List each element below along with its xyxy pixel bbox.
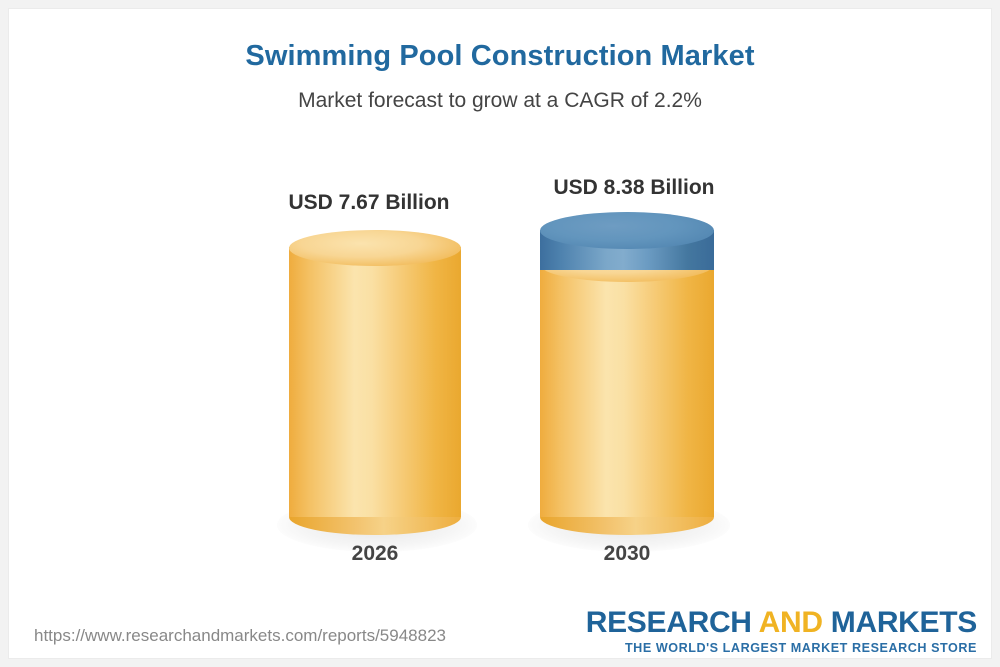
category-label-2026: 2026 [289,542,461,566]
chart-canvas: Swimming Pool Construction Market Market… [8,8,992,659]
logo-wordmark: RESEARCH AND MARKETS [586,607,977,639]
category-label-2030: 2030 [540,542,714,566]
logo-word-markets: MARKETS [831,606,977,639]
chart-plot-area: USD 7.67 Billion 2026 USD 8.38 Billion 2… [9,9,992,659]
bar-value-label-2030: USD 8.38 Billion [454,176,814,200]
logo-word-and: AND [759,606,823,639]
bar-body-2026 [289,247,461,517]
logo-tagline: THE WORLD'S LARGEST MARKET RESEARCH STOR… [586,641,977,656]
logo-word-research: RESEARCH [586,606,752,639]
bar-top-ellipse-2026 [289,230,461,266]
bar-cylinder-2026[interactable] [289,230,461,530]
bar-growth-top-ellipse-2030 [540,212,714,249]
bar-body-base-2030 [540,264,714,517]
bar-cylinder-2030[interactable] [540,212,714,530]
research-and-markets-logo[interactable]: RESEARCH AND MARKETS THE WORLD'S LARGEST… [586,607,977,656]
source-url-link[interactable]: https://www.researchandmarkets.com/repor… [34,626,446,646]
